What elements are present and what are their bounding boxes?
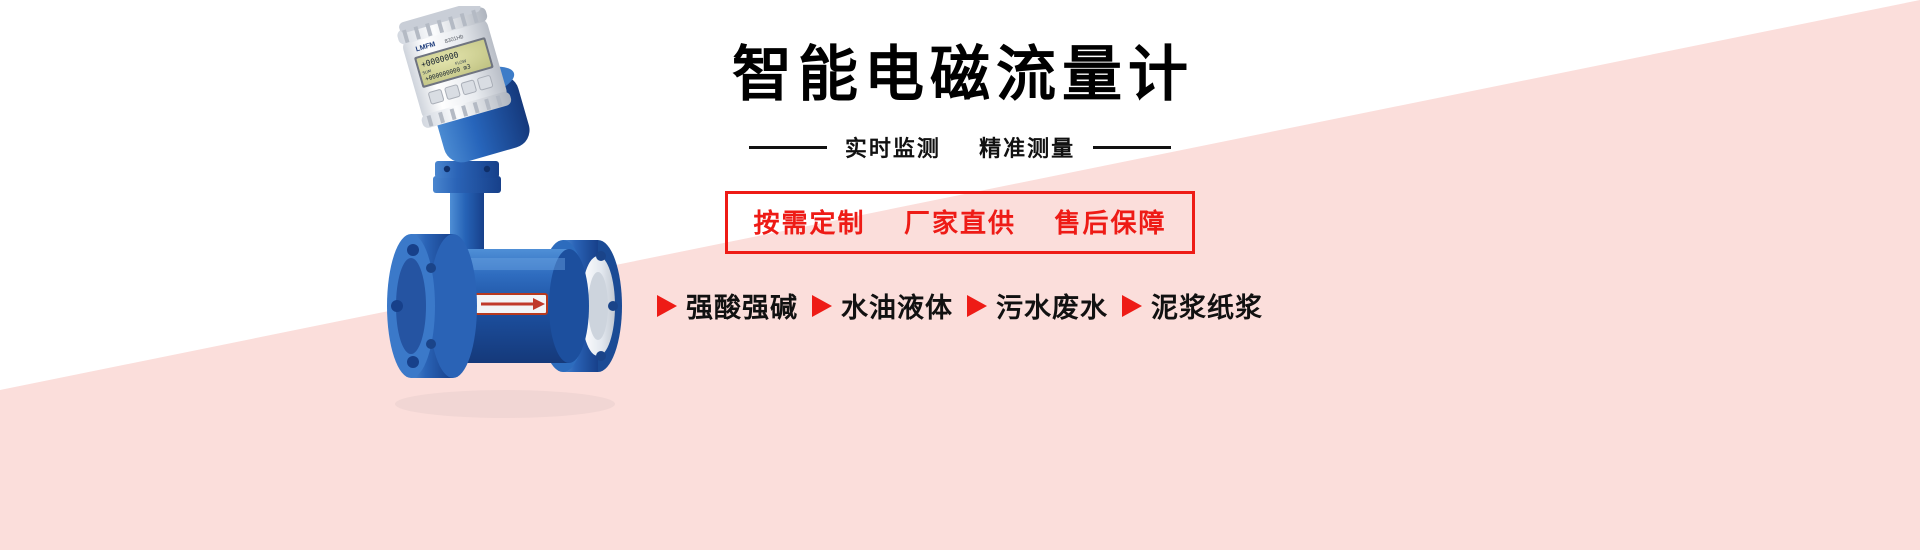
subtitle-text: 实时监测 精准测量 (845, 131, 1075, 163)
badge-item-2: 售后保障 (1054, 208, 1166, 238)
subtitle-right: 精准测量 (979, 136, 1075, 161)
feature-item: 泥浆纸浆 (1122, 286, 1263, 325)
flow-direction-arrow (473, 294, 547, 314)
flange-left (387, 234, 477, 378)
promise-badge: 按需定制 厂家直供 售后保障 (725, 191, 1196, 254)
feature-item: 污水废水 (967, 286, 1108, 325)
triangle-right-icon (967, 295, 987, 317)
triangle-right-icon (812, 295, 832, 317)
rule-right (1093, 146, 1171, 149)
feature-item: 强酸强碱 (657, 286, 798, 325)
badge-item-0: 按需定制 (754, 208, 866, 238)
triangle-right-icon (1122, 295, 1142, 317)
feature-item: 水油液体 (812, 286, 953, 325)
feature-list: 强酸强碱 水油液体 污水废水 泥浆纸浆 (600, 286, 1320, 325)
badge-item-1: 厂家直供 (904, 208, 1016, 238)
subtitle-row: 实时监测 精准测量 (600, 131, 1320, 163)
rule-left (749, 146, 827, 149)
feature-label: 水油液体 (841, 286, 953, 325)
triangle-right-icon (657, 295, 677, 317)
product-banner: LMFM 8301Hb +0000000 +000000000 m3 SUM F… (0, 0, 1920, 550)
feature-label: 强酸强碱 (686, 286, 798, 325)
feature-label: 泥浆纸浆 (1151, 286, 1263, 325)
subtitle-left: 实时监测 (845, 136, 941, 161)
page-title: 智能电磁流量计 (600, 40, 1320, 109)
feature-label: 污水废水 (996, 286, 1108, 325)
banner-copy: 智能电磁流量计 实时监测 精准测量 按需定制 厂家直供 售后保障 强酸强碱 (600, 40, 1320, 325)
badge-wrap: 按需定制 厂家直供 售后保障 (600, 191, 1320, 254)
